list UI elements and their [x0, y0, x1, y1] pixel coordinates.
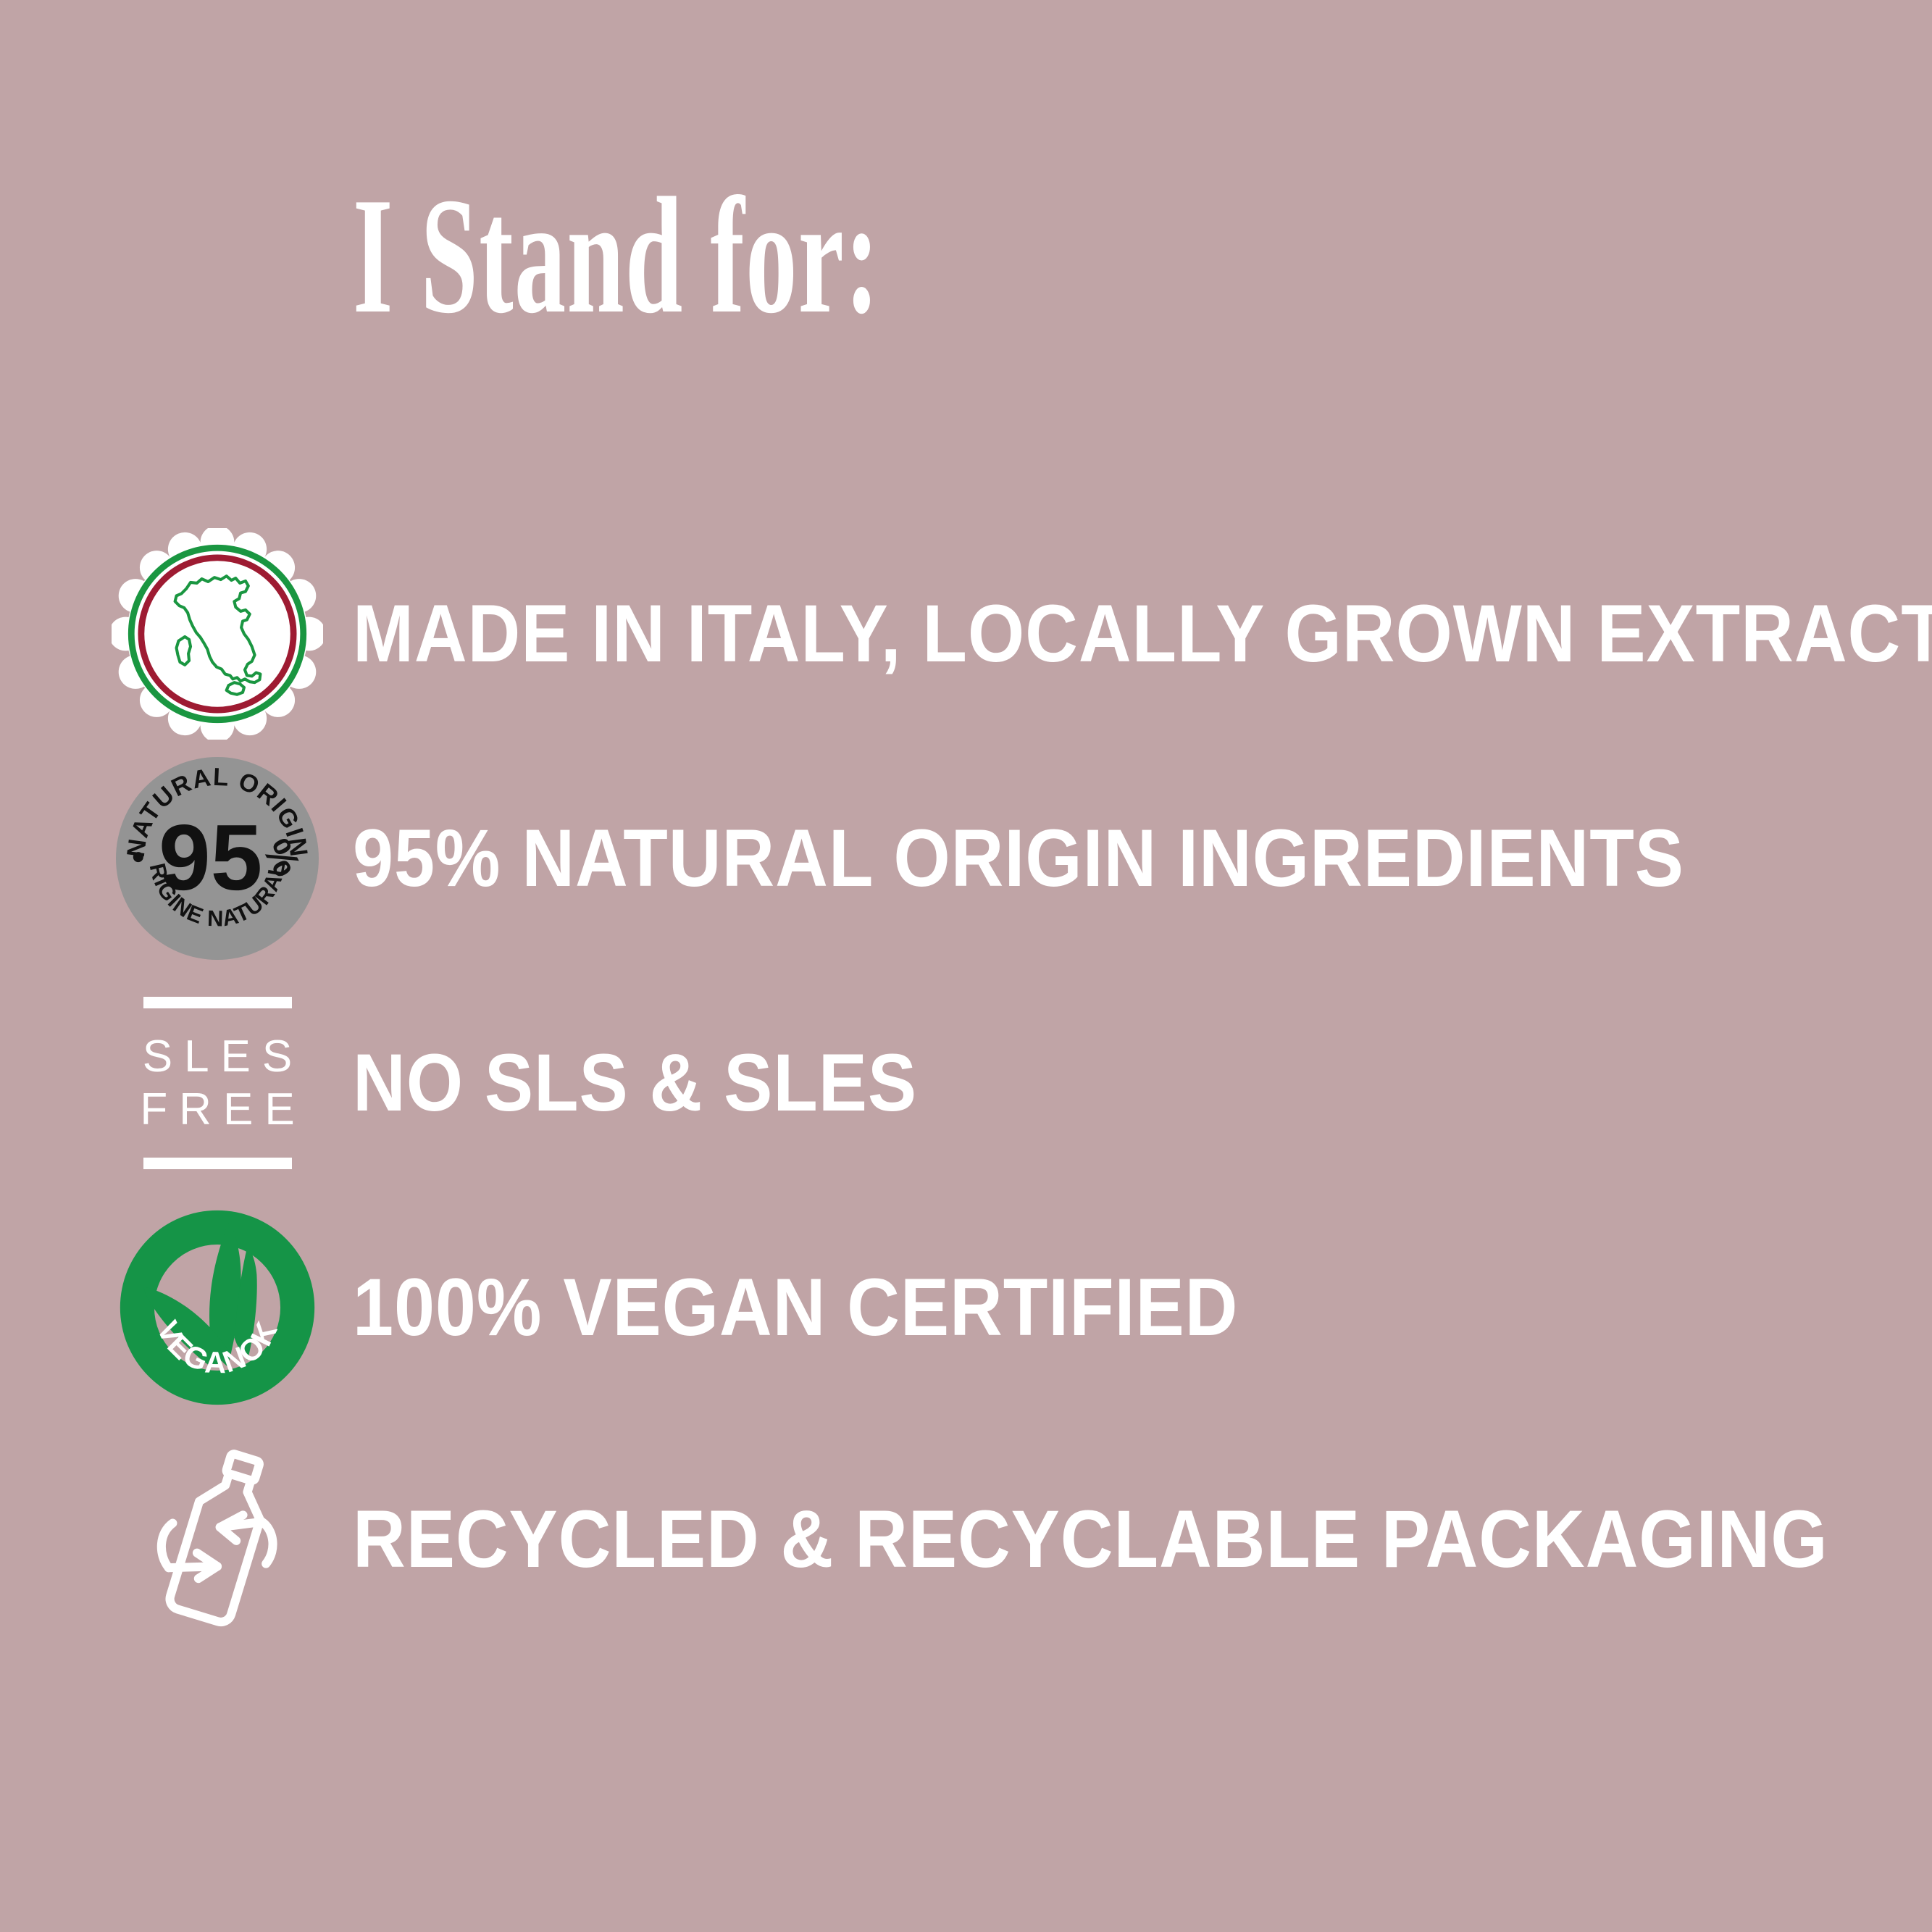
promo-canvas: I Stand for:	[0, 0, 1932, 1932]
claim-icon-slot: SLES FREE	[101, 974, 333, 1192]
claim-row-recycled-packaging: RECYCLED & RECYCLABLE PACKAGING	[0, 1431, 1932, 1648]
claim-row-sles-free: SLES FREE NO SLS & SLES	[0, 974, 1932, 1192]
claim-icon-slot: VEGANOK	[101, 1199, 333, 1416]
claim-label-made-in-italy: MADE IN ITALY, LOCALLY GROWN EXTRACTS	[353, 593, 1932, 674]
claim-label-natural-origin: 95% NATURAL ORIGIN INGREDIENTS	[353, 818, 1684, 899]
sles-line-1: SLES	[128, 1030, 306, 1083]
claim-icon-slot: NATURAL ORIGIN ORIGINE NATURALE 95 %	[101, 750, 333, 967]
made-in-italy-badge-icon	[112, 528, 323, 740]
claim-label-vegan-certified: 100% VEGAN CERTIFIED	[353, 1267, 1238, 1348]
veganok-badge-icon: VEGANOK	[119, 1209, 316, 1406]
claim-icon-slot	[101, 525, 333, 743]
sles-free-badge-icon: SLES FREE	[122, 997, 312, 1169]
natural-origin-95-badge-icon: NATURAL ORIGIN ORIGINE NATURALE 95 %	[116, 757, 319, 960]
claim-icon-slot	[101, 1431, 333, 1648]
recycled-bottle-icon	[127, 1438, 308, 1641]
sles-rule-top	[143, 997, 292, 1008]
sles-line-2: FREE	[128, 1083, 306, 1136]
sles-rule-bottom	[143, 1158, 292, 1169]
claim-row-vegan-certified: VEGANOK 100% VEGAN CERTIFIED	[0, 1199, 1932, 1416]
claim-label-sles-free: NO SLS & SLES	[353, 1042, 917, 1124]
claim-label-recycled-packaging: RECYCLED & RECYCLABLE PACKAGING	[353, 1499, 1828, 1580]
claims-list: MADE IN ITALY, LOCALLY GROWN EXTRACTS NA…	[0, 0, 1932, 1932]
svg-text:95: 95	[159, 806, 262, 910]
claim-row-natural-origin: NATURAL ORIGIN ORIGINE NATURALE 95 % 95%…	[0, 750, 1932, 967]
sles-free-words: SLES FREE	[128, 1008, 306, 1158]
claim-row-made-in-italy: MADE IN ITALY, LOCALLY GROWN EXTRACTS	[0, 525, 1932, 743]
